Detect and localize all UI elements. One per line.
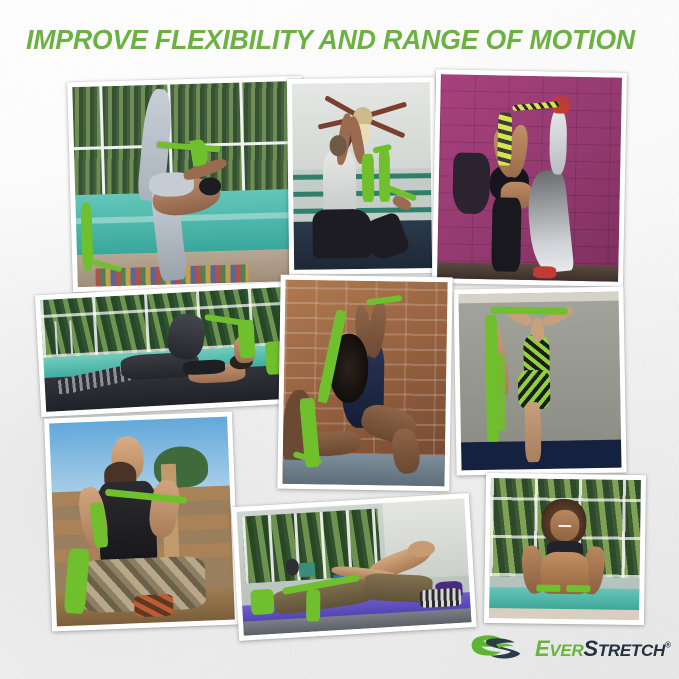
list-item (35, 281, 309, 417)
head (330, 135, 347, 156)
list-item (67, 76, 308, 292)
stretch-strap (497, 112, 512, 165)
brand-logo: EVERSTRETCH® (470, 628, 671, 670)
list-item (277, 275, 452, 492)
wordmark-stretch-cap: S (583, 636, 597, 661)
stretch-strap (491, 307, 568, 315)
stretch-strap (536, 585, 560, 592)
standing-leg (492, 198, 522, 272)
hanging-bag (453, 152, 490, 214)
shoe (134, 593, 174, 617)
photo-prone-quad-pull (40, 286, 304, 412)
page-title: IMPROVE FLEXIBILITY AND RANGE OF MOTION (26, 24, 627, 56)
stretch-strap (566, 585, 590, 592)
stretch-strap-tail (250, 589, 274, 615)
collage-canvas: IMPROVE FLEXIBILITY AND RANGE OF MOTION (0, 0, 679, 679)
kettlebell (299, 562, 316, 578)
stretch-strap-tail (306, 589, 320, 621)
gym-mat (461, 439, 621, 470)
photo-pool-standing-split (72, 81, 302, 287)
brand-wordmark: EVERSTRETCH® (535, 638, 671, 660)
photo-brick-loft-lunge (282, 280, 447, 487)
photo-home-gym-side-split (237, 498, 472, 635)
compression-sock (419, 588, 461, 608)
standing-leg (524, 402, 541, 462)
wordmark-ever-cap: E (535, 636, 549, 661)
list-item (484, 473, 646, 625)
photo-ceiling-fan-quad-stretch (292, 82, 432, 270)
wordmark-stretch-rest: TRETCH (598, 641, 665, 660)
sports-bra (183, 360, 225, 376)
stretch-strap (238, 320, 256, 359)
photo-magenta-wall-dancer (437, 74, 622, 281)
photo-deck-shoulder-stretch (49, 417, 235, 627)
list-item (453, 287, 626, 476)
list-item (432, 69, 627, 287)
smile (558, 525, 572, 527)
stretch-strap (362, 154, 375, 203)
stretch-strap (378, 150, 390, 202)
es-monogram-icon (470, 632, 526, 666)
raised-shin (549, 109, 567, 175)
list-item (287, 77, 437, 275)
wordmark-ever-rest: VER (549, 641, 583, 660)
stretch-strap-tail (495, 353, 506, 431)
shoe (533, 266, 557, 279)
list-item (231, 493, 477, 641)
leggings (313, 209, 372, 258)
floor (437, 262, 618, 282)
list-item (44, 411, 240, 631)
photo-seated-forward-fold (489, 478, 641, 620)
photo-young-gymnast-split (458, 292, 621, 471)
pool-deck (489, 608, 639, 620)
registered-trademark-mark: ® (665, 641, 671, 650)
